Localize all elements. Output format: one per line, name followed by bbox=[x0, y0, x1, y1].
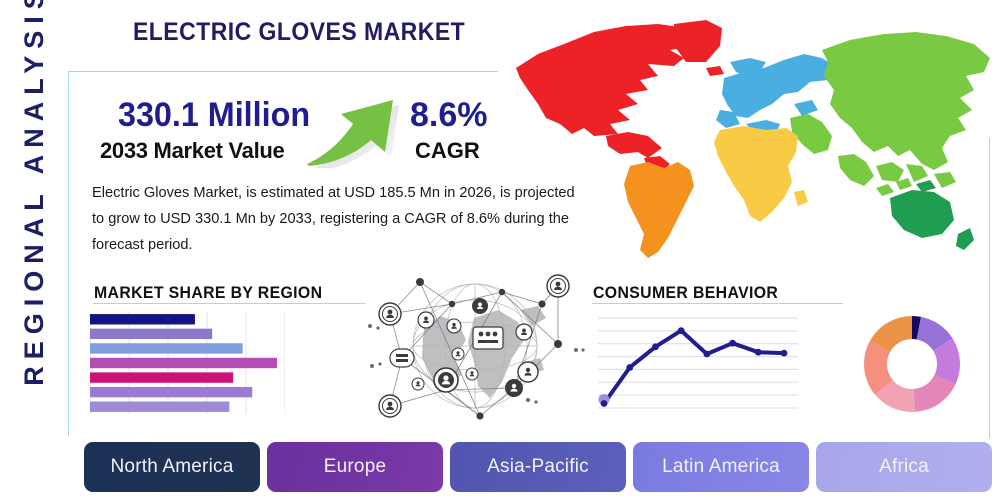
section-header-consumer-behavior: CONSUMER BEHAVIOR bbox=[593, 283, 778, 303]
donut-chart-svg bbox=[856, 308, 968, 420]
bar-chart-bar bbox=[90, 343, 243, 353]
bar-chart-svg bbox=[90, 312, 285, 414]
consumer-behavior-line-chart bbox=[598, 312, 798, 416]
market-value-caption: 2033 Market Value bbox=[100, 138, 284, 164]
bar-chart-bar bbox=[90, 372, 233, 382]
line-chart-point bbox=[626, 364, 633, 371]
cagr-number: 8.6% bbox=[410, 96, 488, 135]
segment-donut-chart bbox=[856, 308, 968, 420]
region-button-north-america[interactable]: North America bbox=[84, 442, 260, 492]
section-header-market-share: MARKET SHARE BY REGION bbox=[94, 283, 322, 303]
global-network-icon bbox=[362, 266, 587, 428]
growth-arrow-icon bbox=[297, 78, 402, 168]
bar-chart-bar bbox=[90, 358, 277, 368]
bar-chart-bar bbox=[90, 329, 212, 339]
market-value-number: 330.1 Million bbox=[118, 96, 310, 135]
region-button-latin-america[interactable]: Latin America bbox=[633, 442, 809, 492]
frame-left-rule bbox=[68, 71, 69, 436]
section-rule-consumer-behavior bbox=[592, 303, 843, 304]
region-button-label: Asia-Pacific bbox=[487, 456, 589, 478]
line-chart-point bbox=[703, 351, 710, 358]
line-chart-point bbox=[601, 400, 608, 407]
region-button-label: North America bbox=[111, 456, 234, 478]
infographic-root: REGIONAL ANALYSIS ELECTRIC GLOVES MARKET… bbox=[0, 0, 1000, 500]
region-button-label: Africa bbox=[879, 456, 929, 478]
line-chart-point bbox=[755, 349, 762, 356]
page-title: ELECTRIC GLOVES MARKET bbox=[133, 18, 465, 47]
region-button-label: Europe bbox=[324, 456, 386, 478]
line-chart-svg bbox=[598, 312, 798, 416]
region-button-group[interactable]: North America Europe Asia-Pacific Latin … bbox=[84, 442, 992, 492]
region-button-label: Latin America bbox=[662, 456, 780, 478]
region-button-europe[interactable]: Europe bbox=[267, 442, 443, 492]
cagr-caption: CAGR bbox=[415, 138, 480, 164]
bar-chart-bar bbox=[90, 402, 229, 412]
line-chart-point bbox=[729, 340, 736, 347]
world-map-icon bbox=[498, 6, 998, 268]
line-chart-point bbox=[781, 350, 788, 357]
section-rule-market-share bbox=[93, 303, 365, 304]
bar-chart-bar bbox=[90, 387, 252, 397]
region-button-asia-pacific[interactable]: Asia-Pacific bbox=[450, 442, 626, 492]
market-share-bar-chart bbox=[90, 312, 285, 414]
line-chart-point bbox=[678, 327, 685, 334]
bar-chart-bar bbox=[90, 314, 195, 324]
side-label-regional-analysis: REGIONAL ANALYSIS bbox=[11, 0, 57, 395]
region-button-africa[interactable]: Africa bbox=[816, 442, 992, 492]
frame-top-rule bbox=[68, 71, 498, 72]
line-chart-point bbox=[652, 343, 659, 350]
